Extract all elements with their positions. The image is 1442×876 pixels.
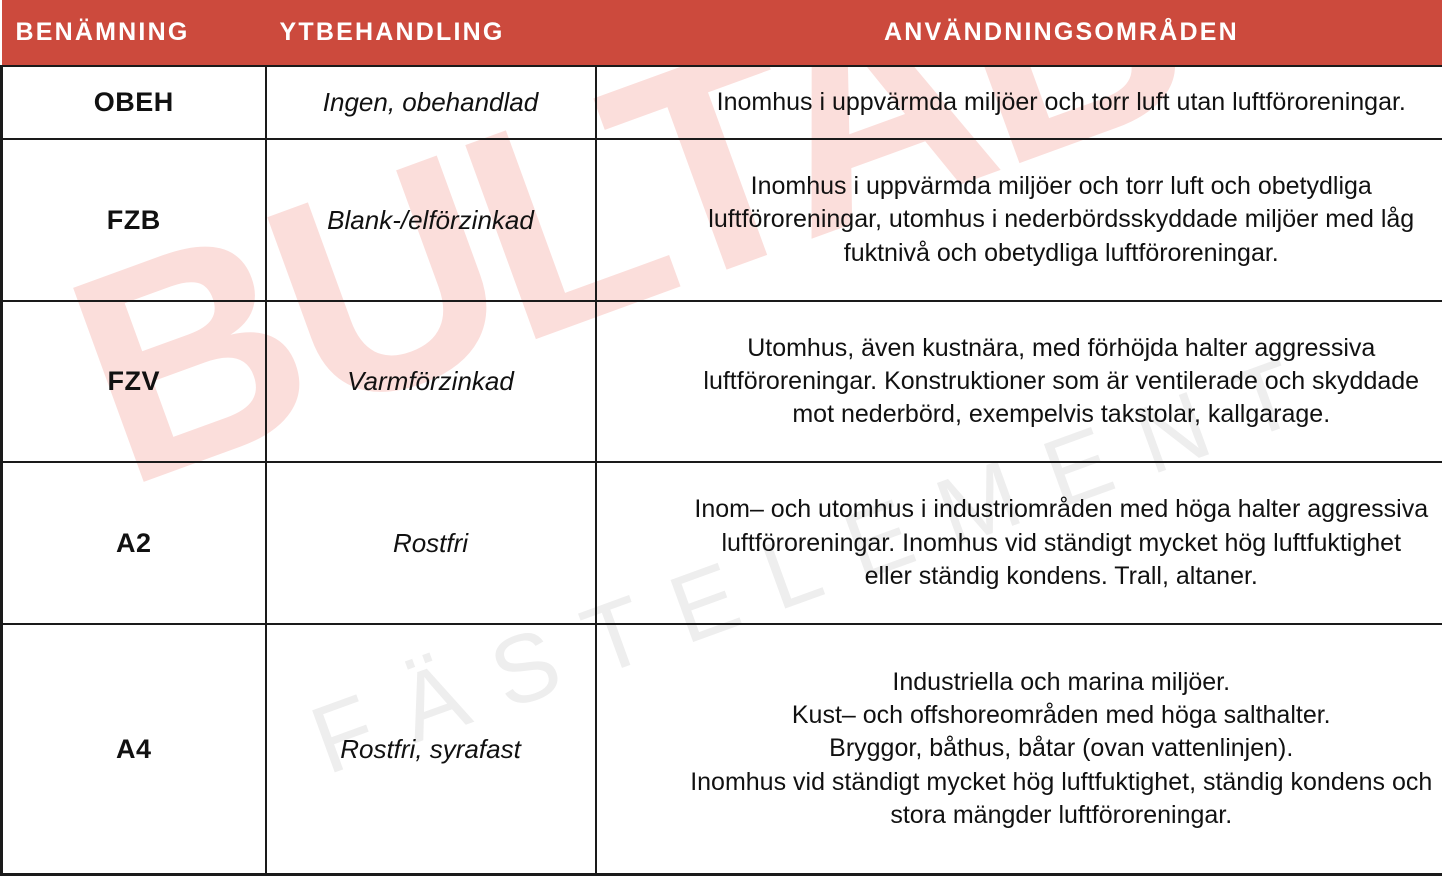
cell-surface: Ingen, obehandlad [266, 66, 596, 139]
usage-line: luftföroreningar, utomhus i nederbördssk… [605, 203, 1442, 236]
usage-line: stora mängder luftföroreningar. [605, 799, 1442, 832]
table-row: FZV Varmförzinkad Utomhus, även kustnära… [2, 301, 1442, 463]
cell-surface: Varmförzinkad [266, 301, 596, 463]
usage-line: Inomhus vid ständigt mycket hög luftfukt… [605, 766, 1442, 799]
usage-line: Industriella och marina miljöer. [605, 666, 1442, 699]
usage-line: luftföroreningar. Konstruktioner som är … [605, 365, 1442, 398]
cell-surface: Rostfri [266, 462, 596, 624]
table-header-row: BENÄMNING YTBEHANDLING ANVÄNDNINGSOMRÅDE… [2, 0, 1442, 66]
table-row: A4 Rostfri, syrafast Industriella och ma… [2, 624, 1442, 875]
usage-line: fuktnivå och obetydliga luftföroreningar… [605, 237, 1442, 270]
usage-line: Kust– och offshoreområden med höga salth… [605, 699, 1442, 732]
cell-code: A4 [2, 624, 266, 875]
usage-line: Inom– och utomhus i industriområden med … [605, 493, 1442, 526]
cell-surface: Rostfri, syrafast [266, 624, 596, 875]
usage-line: eller ständig kondens. Trall, altaner. [605, 560, 1442, 593]
cell-code: OBEH [2, 66, 266, 139]
column-header-anvandningsomraden: ANVÄNDNINGSOMRÅDEN [596, 0, 1442, 66]
cell-surface: Blank-/elförzinkad [266, 139, 596, 301]
table-container: BENÄMNING YTBEHANDLING ANVÄNDNINGSOMRÅDE… [0, 0, 1442, 876]
usage-line: luftföroreningar. Inomhus vid ständigt m… [605, 527, 1442, 560]
usage-line: Inomhus i uppvärmda miljöer och torr luf… [605, 170, 1442, 203]
surface-treatment-table: BENÄMNING YTBEHANDLING ANVÄNDNINGSOMRÅDE… [0, 0, 1442, 876]
cell-code: FZB [2, 139, 266, 301]
cell-usage: Inomhus i uppvärmda miljöer och torr luf… [596, 66, 1442, 139]
usage-line: mot nederbörd, exempelvis takstolar, kal… [605, 398, 1442, 431]
usage-line: Bryggor, båthus, båtar (ovan vattenlinje… [605, 732, 1442, 765]
cell-usage: Utomhus, även kustnära, med förhöjda hal… [596, 301, 1442, 463]
table-row: OBEH Ingen, obehandlad Inomhus i uppvärm… [2, 66, 1442, 139]
table-row: FZB Blank-/elförzinkad Inomhus i uppvärm… [2, 139, 1442, 301]
cell-code: A2 [2, 462, 266, 624]
column-header-benamning: BENÄMNING [2, 0, 266, 66]
table-body: OBEH Ingen, obehandlad Inomhus i uppvärm… [2, 66, 1442, 875]
table-header: BENÄMNING YTBEHANDLING ANVÄNDNINGSOMRÅDE… [2, 0, 1442, 66]
cell-usage: Industriella och marina miljöer. Kust– o… [596, 624, 1442, 875]
usage-line: Inomhus i uppvärmda miljöer och torr luf… [605, 86, 1442, 119]
usage-line: Utomhus, även kustnära, med förhöjda hal… [605, 332, 1442, 365]
cell-usage: Inomhus i uppvärmda miljöer och torr luf… [596, 139, 1442, 301]
cell-usage: Inom– och utomhus i industriområden med … [596, 462, 1442, 624]
column-header-ytbehandling: YTBEHANDLING [266, 0, 596, 66]
surface-treatment-table-page: BULTAB FÄSTELEMENT BENÄMNING YTBEHANDLIN… [0, 0, 1442, 876]
cell-code: FZV [2, 301, 266, 463]
table-row: A2 Rostfri Inom– och utomhus i industrio… [2, 462, 1442, 624]
